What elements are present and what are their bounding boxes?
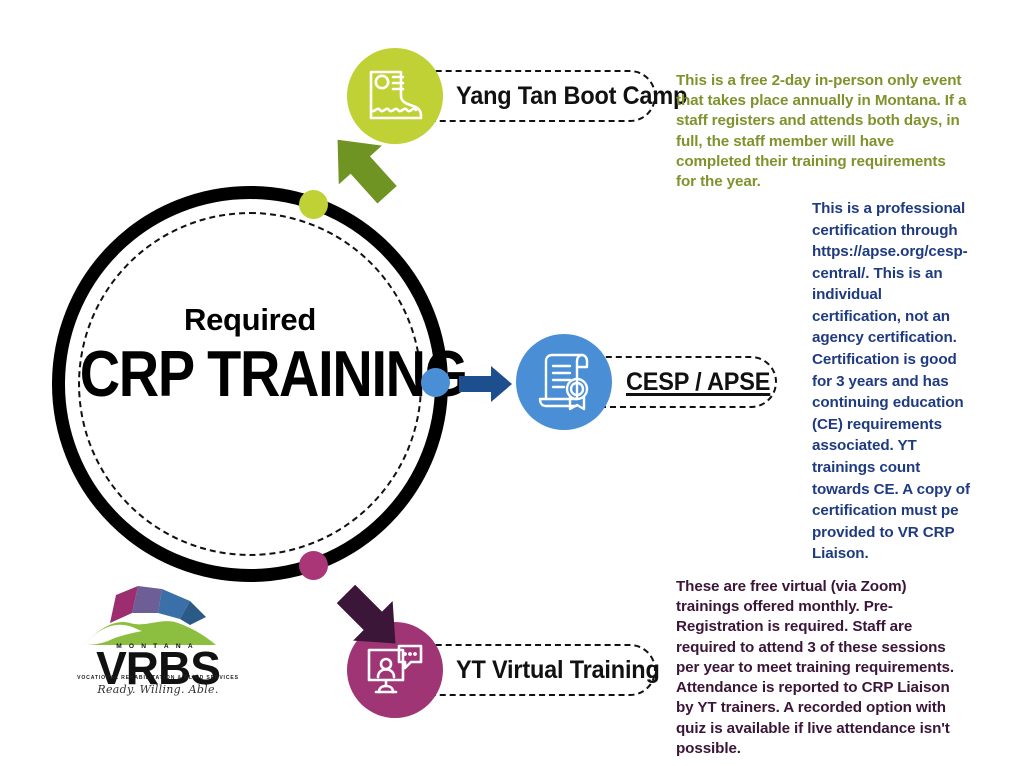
infographic-canvas: Required CRP TRAINING Yang Tan Boot Camp [0, 0, 1021, 766]
connector-dot-boot-camp [299, 190, 328, 219]
icon-circle-cesp[interactable] [516, 334, 612, 430]
branch-label-cesp: CESP / APSE [626, 368, 770, 397]
central-ring: Required CRP TRAINING [52, 186, 448, 582]
description-cesp: This is a professional certification thr… [812, 198, 974, 565]
connector-dot-virtual [299, 551, 328, 580]
logo-tagline: Ready. Willing. Able. [66, 683, 250, 696]
branch-label-boot-camp: Yang Tan Boot Camp [456, 82, 687, 111]
branch-label-virtual-training: YT Virtual Training [456, 656, 660, 685]
connector-dot-cesp [421, 368, 450, 397]
description-boot-camp: This is a free 2-day in-person only even… [676, 71, 968, 192]
arrow-to-boot-camp [322, 128, 404, 208]
arrow-to-cesp [459, 364, 513, 404]
boot-icon [363, 66, 427, 126]
arrow-to-virtual-training [330, 578, 410, 658]
certificate-icon [532, 351, 596, 413]
vrbs-logo: MONTANA VRBS VOCATIONAL REHABILITATION &… [66, 583, 250, 695]
logo-subtitle: VOCATIONAL REHABILITATION & BLIND SERVIC… [66, 675, 250, 681]
ring-dashed-border [78, 212, 422, 556]
description-virtual-training: These are free virtual (via Zoom) traini… [676, 577, 968, 759]
